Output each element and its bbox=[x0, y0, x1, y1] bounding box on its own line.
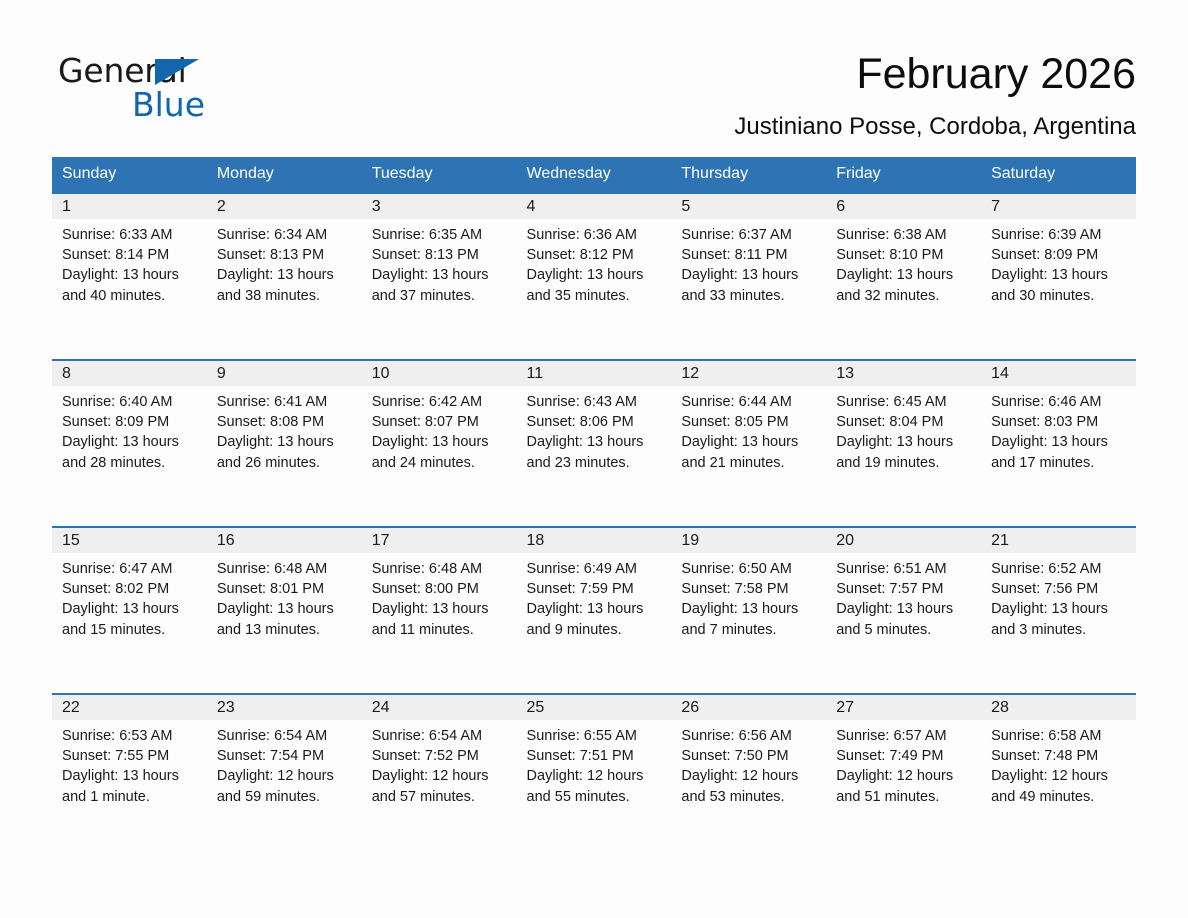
calendar-week-row: 1Sunrise: 6:33 AMSunset: 8:14 PMDaylight… bbox=[52, 193, 1136, 360]
sunset-text: Sunset: 8:09 PM bbox=[62, 412, 199, 432]
day-details: Sunrise: 6:46 AMSunset: 8:03 PMDaylight:… bbox=[981, 386, 1136, 473]
sunset-text: Sunset: 7:58 PM bbox=[681, 579, 818, 599]
sunrise-text: Sunrise: 6:39 AM bbox=[991, 225, 1128, 245]
day-number: 15 bbox=[52, 528, 207, 553]
daylight-text: Daylight: 13 hours and 9 minutes. bbox=[527, 599, 664, 639]
daylight-text: Daylight: 13 hours and 23 minutes. bbox=[527, 432, 664, 472]
weekday-header-monday: Monday bbox=[207, 157, 362, 193]
day-details: Sunrise: 6:56 AMSunset: 7:50 PMDaylight:… bbox=[671, 720, 826, 807]
day-details: Sunrise: 6:57 AMSunset: 7:49 PMDaylight:… bbox=[826, 720, 981, 807]
sunset-text: Sunset: 8:13 PM bbox=[372, 245, 509, 265]
calendar-day-cell[interactable]: 23Sunrise: 6:54 AMSunset: 7:54 PMDayligh… bbox=[207, 694, 362, 860]
weekday-header-row: Sunday Monday Tuesday Wednesday Thursday… bbox=[52, 157, 1136, 193]
sunrise-text: Sunrise: 6:49 AM bbox=[527, 559, 664, 579]
sunset-text: Sunset: 8:14 PM bbox=[62, 245, 199, 265]
day-details: Sunrise: 6:47 AMSunset: 8:02 PMDaylight:… bbox=[52, 553, 207, 640]
calendar-day-cell[interactable]: 10Sunrise: 6:42 AMSunset: 8:07 PMDayligh… bbox=[362, 360, 517, 527]
day-details: Sunrise: 6:54 AMSunset: 7:54 PMDaylight:… bbox=[207, 720, 362, 807]
day-number: 17 bbox=[362, 528, 517, 553]
daylight-text: Daylight: 13 hours and 17 minutes. bbox=[991, 432, 1128, 472]
daylight-text: Daylight: 13 hours and 3 minutes. bbox=[991, 599, 1128, 639]
sunrise-text: Sunrise: 6:43 AM bbox=[527, 392, 664, 412]
sunrise-text: Sunrise: 6:40 AM bbox=[62, 392, 199, 412]
day-details: Sunrise: 6:58 AMSunset: 7:48 PMDaylight:… bbox=[981, 720, 1136, 807]
calendar-day-cell[interactable]: 3Sunrise: 6:35 AMSunset: 8:13 PMDaylight… bbox=[362, 193, 517, 360]
sunrise-text: Sunrise: 6:53 AM bbox=[62, 726, 199, 746]
sunrise-text: Sunrise: 6:57 AM bbox=[836, 726, 973, 746]
daylight-text: Daylight: 13 hours and 38 minutes. bbox=[217, 265, 354, 305]
calendar-day-cell[interactable]: 2Sunrise: 6:34 AMSunset: 8:13 PMDaylight… bbox=[207, 193, 362, 360]
calendar-week-row: 22Sunrise: 6:53 AMSunset: 7:55 PMDayligh… bbox=[52, 694, 1136, 860]
page-subtitle: Justiniano Posse, Cordoba, Argentina bbox=[734, 112, 1136, 142]
sunrise-text: Sunrise: 6:46 AM bbox=[991, 392, 1128, 412]
sunrise-text: Sunrise: 6:48 AM bbox=[217, 559, 354, 579]
general-blue-logo[interactable]: General Blue bbox=[58, 52, 258, 130]
daylight-text: Daylight: 12 hours and 55 minutes. bbox=[527, 766, 664, 806]
day-details: Sunrise: 6:51 AMSunset: 7:57 PMDaylight:… bbox=[826, 553, 981, 640]
day-details: Sunrise: 6:36 AMSunset: 8:12 PMDaylight:… bbox=[517, 219, 672, 306]
calendar-day-cell[interactable]: 21Sunrise: 6:52 AMSunset: 7:56 PMDayligh… bbox=[981, 527, 1136, 694]
sunset-text: Sunset: 7:48 PM bbox=[991, 746, 1128, 766]
day-number: 3 bbox=[362, 194, 517, 219]
calendar-day-cell[interactable]: 25Sunrise: 6:55 AMSunset: 7:51 PMDayligh… bbox=[517, 694, 672, 860]
day-details: Sunrise: 6:49 AMSunset: 7:59 PMDaylight:… bbox=[517, 553, 672, 640]
day-details: Sunrise: 6:41 AMSunset: 8:08 PMDaylight:… bbox=[207, 386, 362, 473]
daylight-text: Daylight: 13 hours and 19 minutes. bbox=[836, 432, 973, 472]
sunset-text: Sunset: 8:06 PM bbox=[527, 412, 664, 432]
sunset-text: Sunset: 8:02 PM bbox=[62, 579, 199, 599]
calendar-day-cell[interactable]: 5Sunrise: 6:37 AMSunset: 8:11 PMDaylight… bbox=[671, 193, 826, 360]
day-details: Sunrise: 6:33 AMSunset: 8:14 PMDaylight:… bbox=[52, 219, 207, 306]
day-number: 25 bbox=[517, 695, 672, 720]
calendar-day-cell[interactable]: 14Sunrise: 6:46 AMSunset: 8:03 PMDayligh… bbox=[981, 360, 1136, 527]
sunset-text: Sunset: 8:05 PM bbox=[681, 412, 818, 432]
sunset-text: Sunset: 8:13 PM bbox=[217, 245, 354, 265]
sunset-text: Sunset: 8:03 PM bbox=[991, 412, 1128, 432]
calendar-table: Sunday Monday Tuesday Wednesday Thursday… bbox=[52, 157, 1136, 860]
day-number: 23 bbox=[207, 695, 362, 720]
daylight-text: Daylight: 13 hours and 1 minute. bbox=[62, 766, 199, 806]
day-details: Sunrise: 6:38 AMSunset: 8:10 PMDaylight:… bbox=[826, 219, 981, 306]
day-details: Sunrise: 6:45 AMSunset: 8:04 PMDaylight:… bbox=[826, 386, 981, 473]
day-details: Sunrise: 6:48 AMSunset: 8:00 PMDaylight:… bbox=[362, 553, 517, 640]
day-number: 27 bbox=[826, 695, 981, 720]
daylight-text: Daylight: 13 hours and 7 minutes. bbox=[681, 599, 818, 639]
page-title: February 2026 bbox=[734, 48, 1136, 100]
day-number: 6 bbox=[826, 194, 981, 219]
calendar-day-cell[interactable]: 7Sunrise: 6:39 AMSunset: 8:09 PMDaylight… bbox=[981, 193, 1136, 360]
sunrise-text: Sunrise: 6:58 AM bbox=[991, 726, 1128, 746]
calendar-day-cell[interactable]: 12Sunrise: 6:44 AMSunset: 8:05 PMDayligh… bbox=[671, 360, 826, 527]
day-number: 22 bbox=[52, 695, 207, 720]
day-details: Sunrise: 6:42 AMSunset: 8:07 PMDaylight:… bbox=[362, 386, 517, 473]
sunset-text: Sunset: 8:01 PM bbox=[217, 579, 354, 599]
sunset-text: Sunset: 8:11 PM bbox=[681, 245, 818, 265]
sunrise-text: Sunrise: 6:38 AM bbox=[836, 225, 973, 245]
daylight-text: Daylight: 13 hours and 11 minutes. bbox=[372, 599, 509, 639]
sunrise-text: Sunrise: 6:56 AM bbox=[681, 726, 818, 746]
sunrise-text: Sunrise: 6:34 AM bbox=[217, 225, 354, 245]
daylight-text: Daylight: 13 hours and 21 minutes. bbox=[681, 432, 818, 472]
sunrise-text: Sunrise: 6:37 AM bbox=[681, 225, 818, 245]
day-details: Sunrise: 6:40 AMSunset: 8:09 PMDaylight:… bbox=[52, 386, 207, 473]
daylight-text: Daylight: 13 hours and 13 minutes. bbox=[217, 599, 354, 639]
calendar-day-cell[interactable]: 19Sunrise: 6:50 AMSunset: 7:58 PMDayligh… bbox=[671, 527, 826, 694]
calendar-day-cell[interactable]: 6Sunrise: 6:38 AMSunset: 8:10 PMDaylight… bbox=[826, 193, 981, 360]
daylight-text: Daylight: 13 hours and 37 minutes. bbox=[372, 265, 509, 305]
daylight-text: Daylight: 13 hours and 5 minutes. bbox=[836, 599, 973, 639]
daylight-text: Daylight: 13 hours and 33 minutes. bbox=[681, 265, 818, 305]
logo-text-blue: Blue bbox=[132, 85, 205, 125]
page-header: General Blue February 2026 Justiniano Po… bbox=[0, 0, 1188, 150]
sunrise-text: Sunrise: 6:35 AM bbox=[372, 225, 509, 245]
day-number: 1 bbox=[52, 194, 207, 219]
day-number: 21 bbox=[981, 528, 1136, 553]
daylight-text: Daylight: 13 hours and 15 minutes. bbox=[62, 599, 199, 639]
calendar-week-row: 8Sunrise: 6:40 AMSunset: 8:09 PMDaylight… bbox=[52, 360, 1136, 527]
calendar-day-cell[interactable]: 28Sunrise: 6:58 AMSunset: 7:48 PMDayligh… bbox=[981, 694, 1136, 860]
day-number: 24 bbox=[362, 695, 517, 720]
day-number: 2 bbox=[207, 194, 362, 219]
day-number: 16 bbox=[207, 528, 362, 553]
day-number: 4 bbox=[517, 194, 672, 219]
calendar-day-cell[interactable]: 20Sunrise: 6:51 AMSunset: 7:57 PMDayligh… bbox=[826, 527, 981, 694]
daylight-text: Daylight: 12 hours and 57 minutes. bbox=[372, 766, 509, 806]
sunset-text: Sunset: 7:49 PM bbox=[836, 746, 973, 766]
weekday-header-friday: Friday bbox=[826, 157, 981, 193]
calendar-header-row-group: Sunday Monday Tuesday Wednesday Thursday… bbox=[52, 157, 1136, 193]
weekday-header-sunday: Sunday bbox=[52, 157, 207, 193]
daylight-text: Daylight: 13 hours and 40 minutes. bbox=[62, 265, 199, 305]
daylight-text: Daylight: 12 hours and 49 minutes. bbox=[991, 766, 1128, 806]
calendar-day-cell[interactable]: 26Sunrise: 6:56 AMSunset: 7:50 PMDayligh… bbox=[671, 694, 826, 860]
day-number: 20 bbox=[826, 528, 981, 553]
sunset-text: Sunset: 7:50 PM bbox=[681, 746, 818, 766]
calendar-day-cell[interactable]: 16Sunrise: 6:48 AMSunset: 8:01 PMDayligh… bbox=[207, 527, 362, 694]
sunrise-text: Sunrise: 6:42 AM bbox=[372, 392, 509, 412]
weekday-header-saturday: Saturday bbox=[981, 157, 1136, 193]
day-number: 19 bbox=[671, 528, 826, 553]
sunrise-text: Sunrise: 6:41 AM bbox=[217, 392, 354, 412]
day-number: 26 bbox=[671, 695, 826, 720]
calendar-day-cell[interactable]: 18Sunrise: 6:49 AMSunset: 7:59 PMDayligh… bbox=[517, 527, 672, 694]
sunrise-text: Sunrise: 6:48 AM bbox=[372, 559, 509, 579]
sunrise-text: Sunrise: 6:36 AM bbox=[527, 225, 664, 245]
day-details: Sunrise: 6:37 AMSunset: 8:11 PMDaylight:… bbox=[671, 219, 826, 306]
sunset-text: Sunset: 7:55 PM bbox=[62, 746, 199, 766]
calendar-day-cell[interactable]: 15Sunrise: 6:47 AMSunset: 8:02 PMDayligh… bbox=[52, 527, 207, 694]
calendar-page: General Blue February 2026 Justiniano Po… bbox=[0, 0, 1188, 918]
calendar-day-cell[interactable]: 13Sunrise: 6:45 AMSunset: 8:04 PMDayligh… bbox=[826, 360, 981, 527]
day-details: Sunrise: 6:43 AMSunset: 8:06 PMDaylight:… bbox=[517, 386, 672, 473]
calendar-day-cell[interactable]: 27Sunrise: 6:57 AMSunset: 7:49 PMDayligh… bbox=[826, 694, 981, 860]
day-number: 28 bbox=[981, 695, 1136, 720]
sunrise-text: Sunrise: 6:51 AM bbox=[836, 559, 973, 579]
weekday-header-tuesday: Tuesday bbox=[362, 157, 517, 193]
day-details: Sunrise: 6:50 AMSunset: 7:58 PMDaylight:… bbox=[671, 553, 826, 640]
day-number: 9 bbox=[207, 361, 362, 386]
sunset-text: Sunset: 7:52 PM bbox=[372, 746, 509, 766]
calendar-week-row: 15Sunrise: 6:47 AMSunset: 8:02 PMDayligh… bbox=[52, 527, 1136, 694]
sunset-text: Sunset: 7:51 PM bbox=[527, 746, 664, 766]
day-details: Sunrise: 6:55 AMSunset: 7:51 PMDaylight:… bbox=[517, 720, 672, 807]
sunrise-text: Sunrise: 6:47 AM bbox=[62, 559, 199, 579]
sunset-text: Sunset: 8:10 PM bbox=[836, 245, 973, 265]
sunrise-text: Sunrise: 6:44 AM bbox=[681, 392, 818, 412]
sunrise-text: Sunrise: 6:55 AM bbox=[527, 726, 664, 746]
sunset-text: Sunset: 7:56 PM bbox=[991, 579, 1128, 599]
calendar-day-cell[interactable]: 4Sunrise: 6:36 AMSunset: 8:12 PMDaylight… bbox=[517, 193, 672, 360]
sunrise-text: Sunrise: 6:54 AM bbox=[372, 726, 509, 746]
sunset-text: Sunset: 8:12 PM bbox=[527, 245, 664, 265]
day-details: Sunrise: 6:48 AMSunset: 8:01 PMDaylight:… bbox=[207, 553, 362, 640]
title-block: February 2026 Justiniano Posse, Cordoba,… bbox=[734, 48, 1136, 142]
sunset-text: Sunset: 8:09 PM bbox=[991, 245, 1128, 265]
daylight-text: Daylight: 12 hours and 53 minutes. bbox=[681, 766, 818, 806]
day-number: 11 bbox=[517, 361, 672, 386]
triangle-icon bbox=[155, 59, 199, 85]
day-number: 7 bbox=[981, 194, 1136, 219]
weekday-header-wednesday: Wednesday bbox=[517, 157, 672, 193]
calendar-day-cell[interactable]: 8Sunrise: 6:40 AMSunset: 8:09 PMDaylight… bbox=[52, 360, 207, 527]
sunrise-text: Sunrise: 6:45 AM bbox=[836, 392, 973, 412]
sunset-text: Sunset: 8:04 PM bbox=[836, 412, 973, 432]
sunrise-text: Sunrise: 6:50 AM bbox=[681, 559, 818, 579]
sunset-text: Sunset: 8:08 PM bbox=[217, 412, 354, 432]
day-number: 14 bbox=[981, 361, 1136, 386]
calendar-day-cell[interactable]: 11Sunrise: 6:43 AMSunset: 8:06 PMDayligh… bbox=[517, 360, 672, 527]
day-details: Sunrise: 6:44 AMSunset: 8:05 PMDaylight:… bbox=[671, 386, 826, 473]
daylight-text: Daylight: 13 hours and 24 minutes. bbox=[372, 432, 509, 472]
daylight-text: Daylight: 13 hours and 35 minutes. bbox=[527, 265, 664, 305]
day-details: Sunrise: 6:53 AMSunset: 7:55 PMDaylight:… bbox=[52, 720, 207, 807]
daylight-text: Daylight: 13 hours and 30 minutes. bbox=[991, 265, 1128, 305]
day-details: Sunrise: 6:39 AMSunset: 8:09 PMDaylight:… bbox=[981, 219, 1136, 306]
sunrise-text: Sunrise: 6:54 AM bbox=[217, 726, 354, 746]
sunset-text: Sunset: 7:57 PM bbox=[836, 579, 973, 599]
day-details: Sunrise: 6:34 AMSunset: 8:13 PMDaylight:… bbox=[207, 219, 362, 306]
sunset-text: Sunset: 8:07 PM bbox=[372, 412, 509, 432]
day-number: 5 bbox=[671, 194, 826, 219]
sunset-text: Sunset: 8:00 PM bbox=[372, 579, 509, 599]
calendar-day-cell[interactable]: 9Sunrise: 6:41 AMSunset: 8:08 PMDaylight… bbox=[207, 360, 362, 527]
calendar-day-cell[interactable]: 22Sunrise: 6:53 AMSunset: 7:55 PMDayligh… bbox=[52, 694, 207, 860]
day-details: Sunrise: 6:54 AMSunset: 7:52 PMDaylight:… bbox=[362, 720, 517, 807]
day-number: 12 bbox=[671, 361, 826, 386]
sunset-text: Sunset: 7:59 PM bbox=[527, 579, 664, 599]
day-number: 18 bbox=[517, 528, 672, 553]
calendar-day-cell[interactable]: 1Sunrise: 6:33 AMSunset: 8:14 PMDaylight… bbox=[52, 193, 207, 360]
day-details: Sunrise: 6:52 AMSunset: 7:56 PMDaylight:… bbox=[981, 553, 1136, 640]
sunset-text: Sunset: 7:54 PM bbox=[217, 746, 354, 766]
day-number: 10 bbox=[362, 361, 517, 386]
daylight-text: Daylight: 13 hours and 32 minutes. bbox=[836, 265, 973, 305]
daylight-text: Daylight: 13 hours and 26 minutes. bbox=[217, 432, 354, 472]
calendar-day-cell[interactable]: 24Sunrise: 6:54 AMSunset: 7:52 PMDayligh… bbox=[362, 694, 517, 860]
daylight-text: Daylight: 12 hours and 51 minutes. bbox=[836, 766, 973, 806]
sunrise-text: Sunrise: 6:33 AM bbox=[62, 225, 199, 245]
sunrise-text: Sunrise: 6:52 AM bbox=[991, 559, 1128, 579]
daylight-text: Daylight: 13 hours and 28 minutes. bbox=[62, 432, 199, 472]
weekday-header-thursday: Thursday bbox=[671, 157, 826, 193]
calendar-body: 1Sunrise: 6:33 AMSunset: 8:14 PMDaylight… bbox=[52, 193, 1136, 860]
day-details: Sunrise: 6:35 AMSunset: 8:13 PMDaylight:… bbox=[362, 219, 517, 306]
calendar-day-cell[interactable]: 17Sunrise: 6:48 AMSunset: 8:00 PMDayligh… bbox=[362, 527, 517, 694]
daylight-text: Daylight: 12 hours and 59 minutes. bbox=[217, 766, 354, 806]
day-number: 13 bbox=[826, 361, 981, 386]
day-number: 8 bbox=[52, 361, 207, 386]
